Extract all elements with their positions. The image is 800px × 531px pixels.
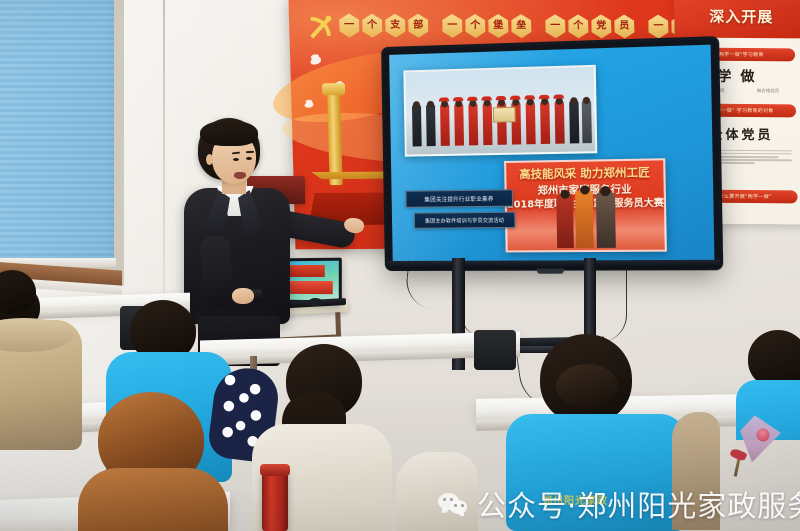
blue-vest [506,414,686,531]
presenter-mouth [234,172,246,179]
slogan-gap [534,14,543,38]
poster-top-banner-text: 深入开展 [709,5,773,26]
display-screen: 高技能风采 助力郑州工匠 郑州市家庭服务行业 2018年度职业技能家政服务员大赛… [389,45,714,261]
slogan-char: 个 [465,14,486,38]
slide-group-photo [403,65,597,157]
slogan-char: 个 [362,14,383,38]
hammer-sickle-emblem [305,11,336,41]
thermos-cap[interactable] [260,464,290,476]
screenshot-root: 一 个 支 部 一 个 堡 垒 一 个 党 员 一 面 [0,0,800,531]
chair-back [474,330,516,370]
presenter [176,118,356,363]
slide-bullet-1: 集团关注提升行业职业素养 [405,189,513,207]
presenter-eye [246,157,252,160]
slogan-gap [431,14,440,38]
presenter-eye [233,158,239,161]
thermos-bottle[interactable] [262,470,288,531]
display-bezel-bottom [388,260,720,268]
hair-shoulders [78,468,228,531]
big-char-zuo: 做 [740,69,763,85]
ivory-sleeve [396,452,478,531]
slogan-char: 一 [545,14,566,38]
slogan-gap [637,15,646,39]
presenter-hair-fringe [200,120,258,146]
slogan-char: 员 [614,14,635,38]
wall-seam [163,0,165,340]
slogan-char: 支 [385,14,406,38]
bouquet-ribbon [729,447,747,462]
award-banner-line-1: 高技能风采 助力郑州工匠 [510,164,659,183]
peace-dove-icon [309,56,322,66]
slogan-char: 一 [339,13,360,37]
presentation-display[interactable]: 高技能风采 助力郑州工匠 郑州市家庭服务行业 2018年度职业技能家政服务员大赛… [384,39,720,268]
award-plaque [493,107,516,123]
slogan-char: 个 [568,14,589,38]
coat-sleeve [672,412,720,530]
hair-bun [556,364,618,408]
slogan-char: 一 [648,15,669,39]
display-brand-badge [537,269,564,274]
poster-top-banner: 深入开展 [674,0,800,38]
display-cable [462,264,481,336]
vest-text: 郑州阳光家政 [542,492,608,507]
slide-award-photo: 高技能风采 助力郑州工匠 郑州市家庭服务行业 2018年度职业技能家政服务员大赛 [504,158,667,252]
presenter-left-arm [199,235,235,309]
presenter-ear [206,154,213,165]
slogan-char: 党 [591,14,612,38]
slide-bullet-2: 集团主办软件培训与学员交流活动 [414,212,516,229]
slogan-char: 一 [442,14,463,38]
slogan-char: 垒 [511,14,532,38]
big-char-xue: 学 [717,69,740,85]
presenter-eyebrow [246,151,254,153]
slogan-char: 堡 [488,14,509,38]
presenter-left-hand [232,288,254,304]
slogan-char: 部 [408,14,429,38]
slogan-hex-row: 一 个 支 部 一 个 堡 垒 一 个 党 员 一 面 [339,13,692,38]
sub-right: 做合格党员 [757,88,780,94]
window-blind [0,0,114,264]
